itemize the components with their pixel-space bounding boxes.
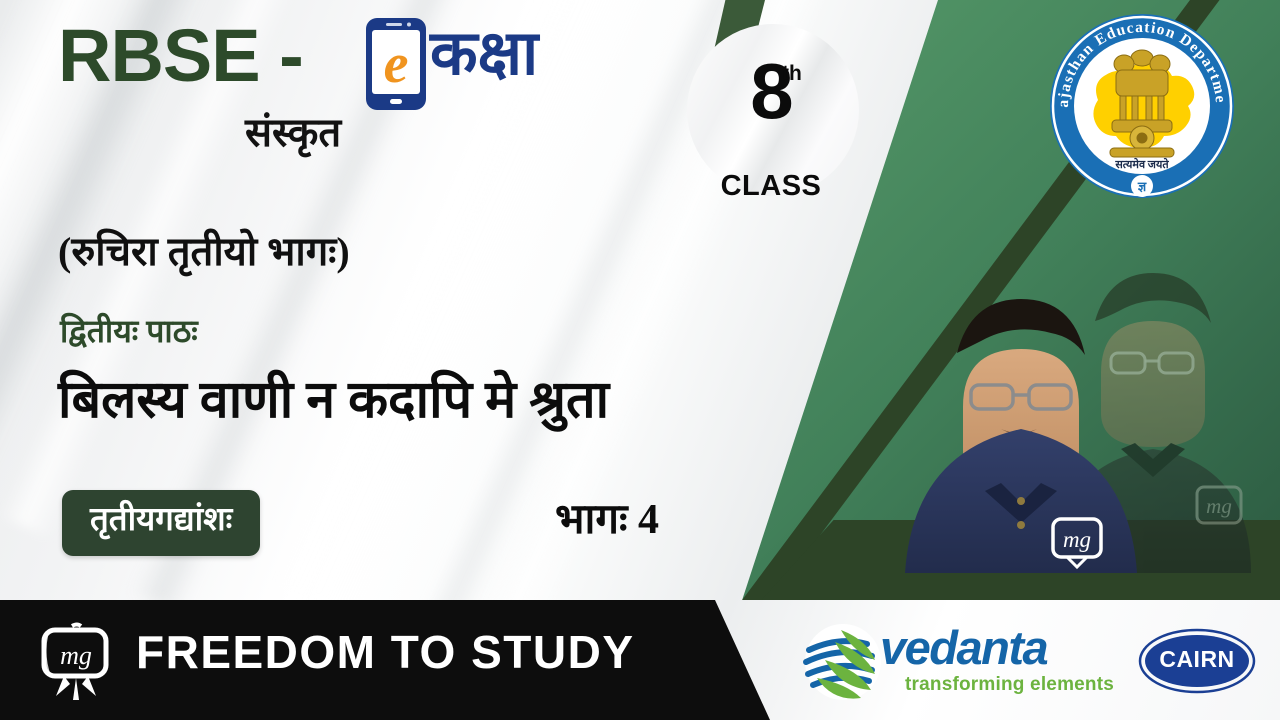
footer-tagline: FREEDOM TO STUDY	[136, 629, 635, 675]
smartphone-icon: e	[364, 16, 428, 112]
thumbnail-canvas: mg mg	[0, 0, 1280, 720]
svg-text:mg: mg	[1206, 494, 1232, 518]
book-part-label: (रुचिरा तृतीयो भागः)	[58, 228, 350, 276]
subject-name: संस्कृत	[245, 113, 341, 153]
part-number: भागः 4	[555, 495, 659, 545]
svg-text:mg: mg	[1063, 527, 1091, 552]
lesson-number-label: द्वितीयः पाठः	[60, 312, 198, 350]
vedanta-wordmark: vedanta	[880, 624, 1047, 671]
instructors-photo: mg mg	[905, 225, 1280, 600]
mg-board-logo-icon: mg	[34, 622, 118, 702]
vedanta-tagline: transforming elements	[905, 675, 1114, 694]
class-number: 8	[716, 52, 826, 130]
e-letter: e	[384, 33, 409, 95]
svg-text:ज्ञ: ज्ञ	[1137, 179, 1147, 194]
rajasthan-education-department-emblem: Rajasthan Education Department सत्यमेव ज…	[1044, 8, 1240, 204]
brand-ekaksha: कक्षा	[430, 23, 538, 85]
svg-text:mg: mg	[60, 641, 92, 670]
lesson-title: बिलस्य वाणी न कदापि मे श्रुता	[58, 368, 609, 433]
brand-rbse: RBSE -	[58, 19, 303, 93]
passage-badge: तृतीयगद्यांशः	[62, 490, 260, 556]
emblem-motto: सत्यमेव जयते	[1114, 157, 1169, 171]
class-ordinal-suffix: th	[782, 62, 802, 86]
cairn-wordmark: CAIRN	[1138, 648, 1256, 671]
class-label: CLASS	[700, 170, 842, 203]
